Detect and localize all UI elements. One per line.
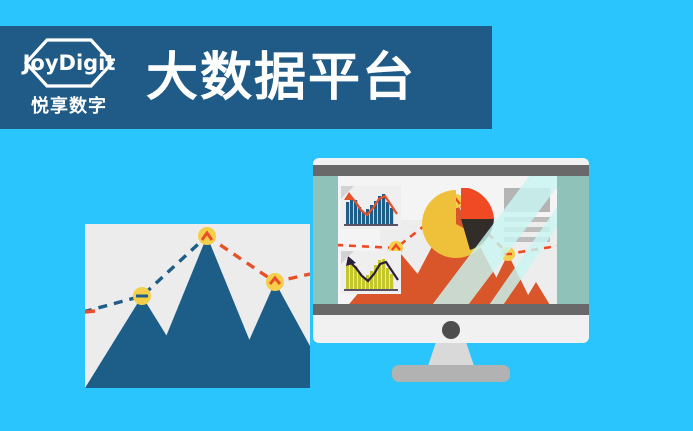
left-chart-panel	[85, 224, 310, 388]
data-node	[198, 227, 216, 245]
brand-logo: JoyDigit 悦享数字	[14, 37, 124, 119]
monitor-stand	[313, 0, 589, 431]
logo-subtitle: 悦享数字	[31, 92, 107, 118]
logo-wordmark: JoyDigit	[23, 53, 116, 74]
monitor-base	[392, 365, 510, 382]
left-mountain-chart	[85, 224, 310, 388]
illustration-stage: JoyDigit 悦享数字 大数据平台	[0, 0, 693, 431]
trend-line-tail	[85, 311, 95, 312]
hexagon-icon: JoyDigit	[23, 37, 115, 89]
